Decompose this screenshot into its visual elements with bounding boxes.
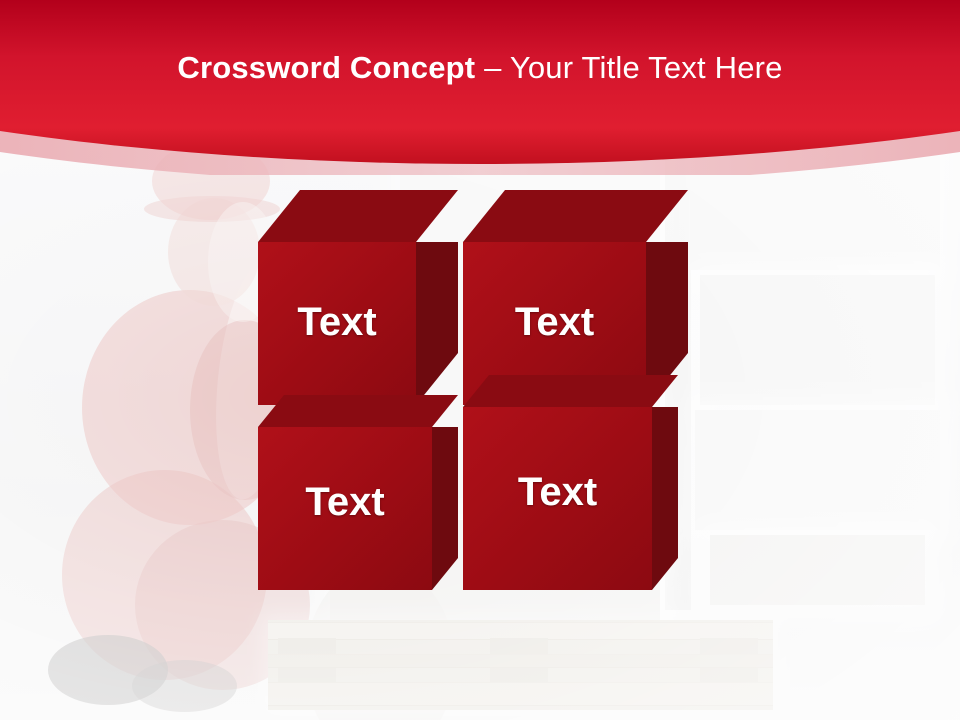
cube-label: Text [463, 470, 652, 515]
cube-top-left[interactable]: Text [258, 190, 498, 405]
cube-side-face [416, 242, 458, 405]
cube-top-face [258, 190, 458, 242]
cube-top-face [463, 190, 688, 242]
cube-label: Text [258, 300, 416, 345]
slide-canvas: Crossword Concept – Your Title Text Here… [0, 0, 960, 720]
cube-label: Text [463, 300, 646, 345]
cube-bottom-right[interactable]: Text [463, 375, 703, 590]
cube-top-face [258, 395, 458, 427]
cube-side-face [432, 427, 458, 590]
cube-top-face [463, 375, 678, 407]
cube-group: Text Text Text Text [0, 0, 960, 720]
cube-bottom-left[interactable]: Text [258, 395, 498, 590]
cube-label: Text [258, 480, 432, 525]
cube-top-right[interactable]: Text [463, 190, 703, 405]
cube-side-face [652, 407, 678, 590]
